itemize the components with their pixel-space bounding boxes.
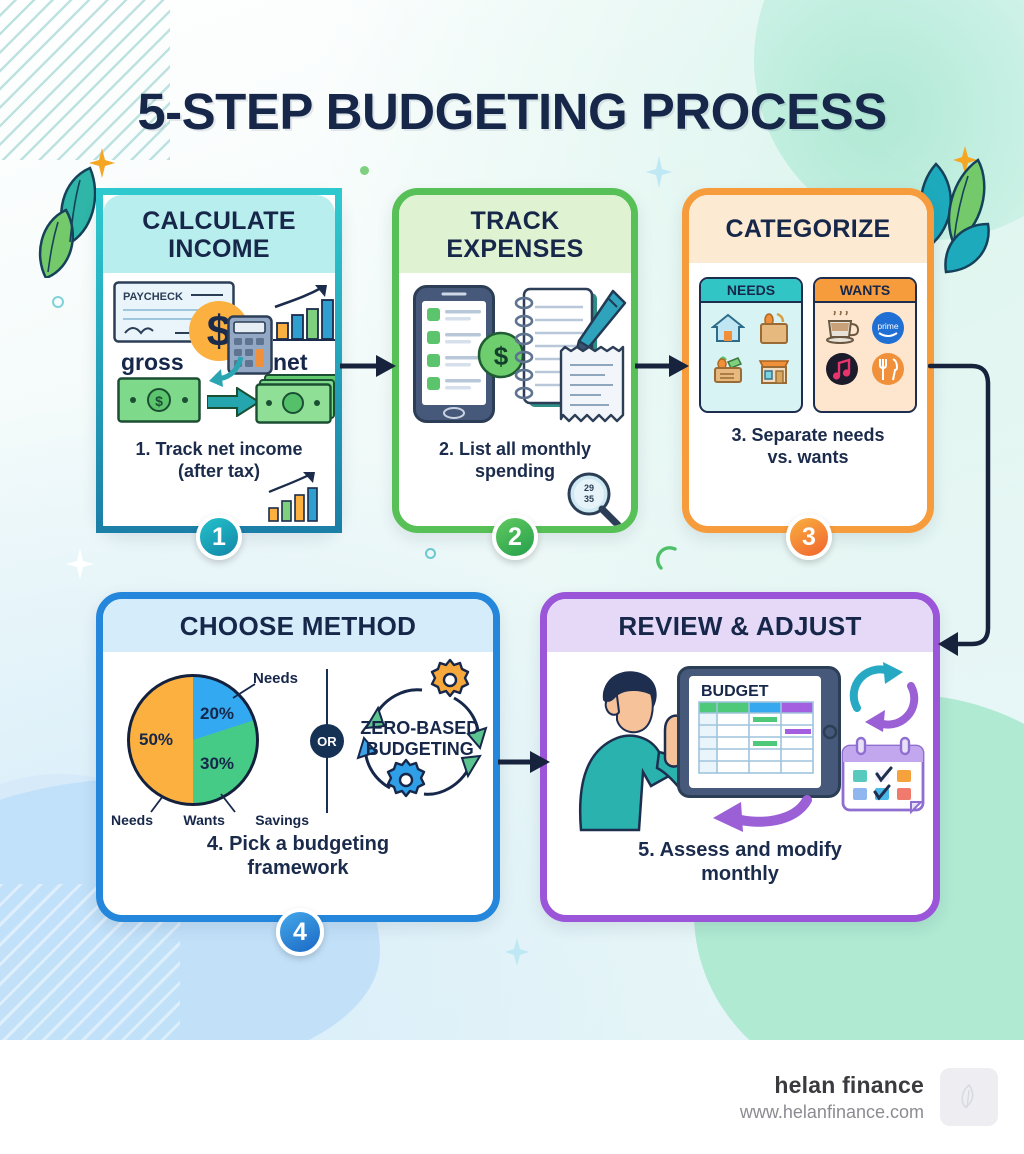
method-divider: OR — [308, 661, 346, 821]
prime-badge-icon: prime — [868, 310, 910, 346]
zero-based-label-line1: ZERO-BASED — [342, 718, 498, 739]
gear-icon-orange — [428, 658, 472, 702]
step-3-heading: CATEGORIZE — [689, 195, 927, 263]
step-badge-1-number: 1 — [212, 523, 226, 552]
needs-icon-grid — [701, 303, 801, 394]
step-card-1[interactable]: CALCULATE INCOME PAYCHECK $ — [96, 188, 342, 533]
brand-name: helan finance — [740, 1072, 924, 1099]
magnifier-icon: 29 35 — [565, 470, 625, 532]
arrow-card4-to-card5-icon — [498, 748, 550, 776]
zero-based-block: ZERO-BASED BUDGETING — [346, 652, 493, 830]
footer: helan finance www.helanfinance.com — [0, 1040, 1024, 1154]
pie-chart-block: 20% 30% 50% Needs Needs Wants Savings — [103, 652, 308, 830]
pie-axis-labels: Needs Wants Savings — [111, 812, 309, 828]
step-1-caption-line1: 1. Track net income — [135, 439, 302, 461]
arrow-right-icon — [207, 387, 259, 417]
step-badge-2-number: 2 — [508, 523, 522, 552]
step-1-heading-line2: INCOME — [113, 235, 325, 263]
arrow-card1-to-card2-icon — [340, 352, 396, 380]
or-badge: OR — [310, 724, 344, 758]
step-badge-4-number: 4 — [293, 918, 307, 947]
leaf-logo-icon — [940, 1068, 998, 1126]
svg-text:prime: prime — [878, 321, 900, 331]
gear-icon-blue — [384, 758, 428, 802]
store-icon — [754, 351, 796, 387]
step-badge-1: 1 — [196, 514, 242, 560]
net-label: net — [273, 349, 308, 376]
sparkle-icon-blue-top — [646, 156, 672, 188]
step-4-caption: 4. Pick a budgeting framework — [195, 832, 401, 880]
divider-line-top — [326, 669, 328, 725]
footer-text: helan finance www.helanfinance.com — [740, 1072, 924, 1123]
wants-icon-grid: prime — [815, 303, 915, 394]
divider-line-bottom — [326, 757, 328, 813]
step-card-4[interactable]: CHOOSE METHOD 20% 30% 50% Needs — [96, 592, 500, 922]
step-4-caption-line2: framework — [207, 856, 389, 880]
calculate-income-illustration: PAYCHECK $ — [103, 273, 335, 431]
banknote-gross-icon: $ — [117, 377, 201, 423]
banknote-net-icon — [255, 373, 341, 425]
decor-ring-teal — [425, 548, 436, 559]
pie-label-savings: Savings — [255, 812, 309, 828]
svg-text:$: $ — [494, 341, 509, 371]
step-1-heading: CALCULATE INCOME — [103, 195, 335, 273]
pie-callout-needs: Needs — [253, 670, 298, 687]
pie-label-wants: Wants — [183, 812, 224, 828]
step-5-caption-line2: monthly — [638, 862, 842, 886]
gross-label: gross — [121, 349, 184, 376]
step-badge-3: 3 — [786, 514, 832, 560]
step-1-body: PAYCHECK $ — [103, 273, 335, 526]
step-3-caption: 3. Separate needs vs. wants — [719, 425, 896, 468]
sparkle-icon-blue-bottom — [505, 938, 529, 966]
calendar-icon — [841, 736, 925, 814]
svg-text:29: 29 — [584, 483, 594, 493]
curved-arrow-down-icon — [207, 353, 247, 389]
needs-label: NEEDS — [701, 279, 801, 303]
arrow-card2-to-card3-icon — [635, 352, 689, 380]
step-3-heading-line1: CATEGORIZE — [699, 215, 917, 243]
step-card-5[interactable]: REVIEW & ADJUST — [540, 592, 940, 922]
step-card-2[interactable]: TRACK EXPENSES — [392, 188, 638, 533]
step-badge-4: 4 — [276, 908, 324, 956]
step-5-caption: 5. Assess and modify monthly — [626, 838, 854, 886]
zero-based-label: ZERO-BASED BUDGETING — [342, 718, 498, 759]
tablet-icon: BUDGET — [677, 666, 841, 798]
step-1-heading-line1: CALCULATE — [113, 207, 325, 235]
step-badge-3-number: 3 — [802, 523, 816, 552]
review-adjust-illustration: BUDGET — [547, 652, 933, 834]
step-4-body: 20% 30% 50% Needs Needs Wants Savings — [103, 652, 493, 915]
sparkle-icon-white-left — [66, 548, 94, 580]
step-2-heading-line1: TRACK — [409, 207, 621, 235]
refresh-arrows-icon — [845, 660, 923, 734]
needs-panel: NEEDS — [699, 277, 803, 413]
page-title: 5-STEP BUDGETING PROCESS — [0, 82, 1024, 141]
tablet-budget-title: BUDGET — [701, 683, 769, 700]
choose-method-illustration: 20% 30% 50% Needs Needs Wants Savings — [103, 652, 493, 830]
step-3-body: NEEDS — [689, 263, 927, 526]
step-2-body: $ — [399, 273, 631, 526]
zero-based-label-line2: BUDGETING — [342, 739, 498, 760]
step-badge-2: 2 — [492, 514, 538, 560]
step-2-heading: TRACK EXPENSES — [399, 195, 631, 273]
dining-icon — [868, 351, 910, 387]
step-5-caption-line1: 5. Assess and modify — [638, 838, 842, 862]
brand-url[interactable]: www.helanfinance.com — [740, 1102, 924, 1123]
svg-text:$: $ — [155, 393, 163, 409]
bar-chart-small-icon — [265, 472, 325, 524]
wants-label: WANTS — [815, 279, 915, 303]
grocery-bag-icon — [754, 310, 796, 346]
step-5-body: BUDGET — [547, 652, 933, 915]
arrow-card3-wrap-to-card5-icon — [928, 356, 1000, 658]
step-5-heading: REVIEW & ADJUST — [547, 599, 933, 652]
step-2-caption-line1: 2. List all monthly — [439, 439, 591, 461]
coffee-cup-icon — [821, 310, 863, 346]
infographic-page: 5-STEP BUDGETING PROCESS CALCULATE INCOM… — [0, 0, 1024, 1154]
step-4-caption-line1: 4. Pick a budgeting — [207, 832, 389, 856]
track-expenses-illustration: $ — [399, 273, 631, 431]
music-note-icon — [821, 351, 863, 387]
curved-arrow-icon — [697, 792, 817, 834]
step-5-heading-line1: REVIEW & ADJUST — [557, 612, 923, 641]
step-4-heading: CHOOSE METHOD — [103, 599, 493, 652]
step-card-3[interactable]: CATEGORIZE NEEDS — [682, 188, 934, 533]
decor-dot-green — [360, 166, 369, 175]
step-2-heading-line2: EXPENSES — [409, 235, 621, 263]
svg-text:35: 35 — [584, 494, 594, 504]
decor-dot-teal — [52, 296, 64, 308]
receipt-icon — [557, 345, 631, 425]
paycheck-label: PAYCHECK — [123, 291, 183, 303]
house-icon — [707, 310, 749, 346]
decor-arc-green — [655, 546, 679, 572]
step-3-caption-line2: vs. wants — [731, 447, 884, 469]
pie-label-needs: Needs — [111, 812, 153, 828]
step-4-heading-line1: CHOOSE METHOD — [113, 612, 483, 641]
step-3-caption-line1: 3. Separate needs — [731, 425, 884, 447]
categorize-illustration: NEEDS — [689, 263, 927, 413]
bar-chart-icon — [271, 283, 342, 345]
produce-box-icon — [707, 351, 749, 387]
wants-panel: WANTS prime — [813, 277, 917, 413]
